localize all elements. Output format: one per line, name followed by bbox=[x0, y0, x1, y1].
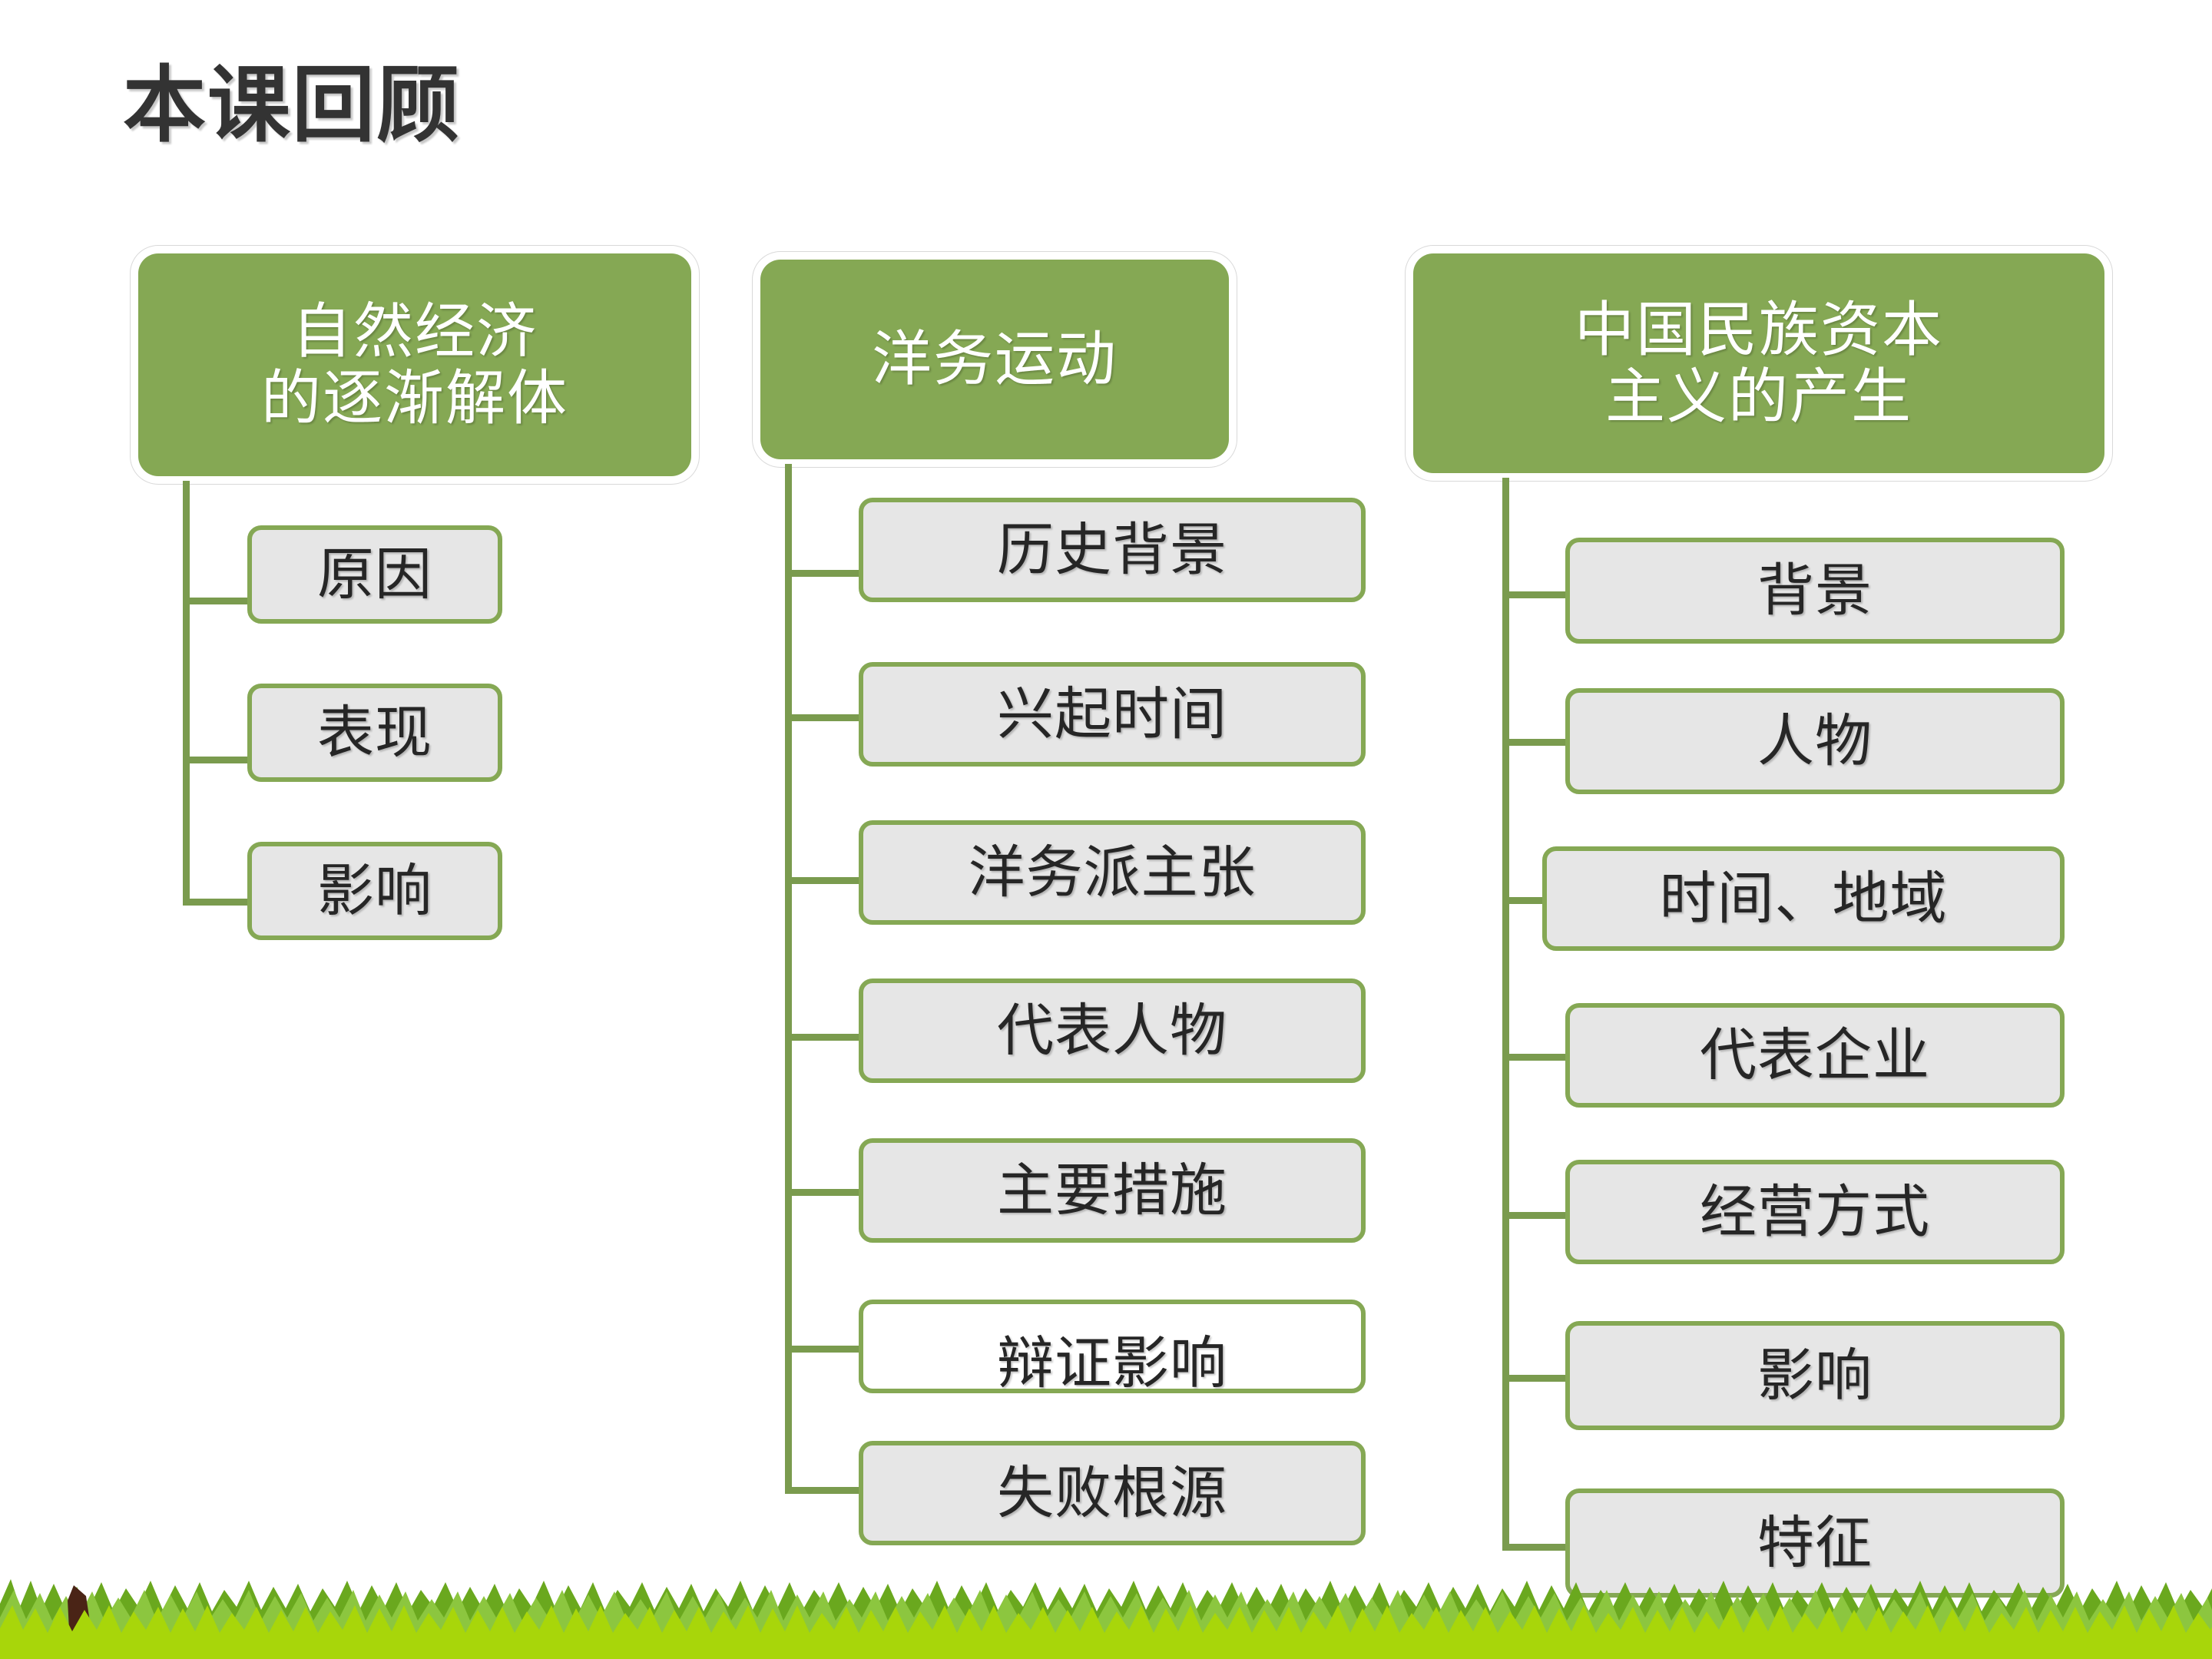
child-node-label: 表现 bbox=[317, 704, 432, 761]
connector-stub-3-1 bbox=[1502, 591, 1570, 598]
connector-stub-3-7 bbox=[1502, 1544, 1570, 1551]
child-node-2-2[interactable]: 兴起时间 bbox=[859, 662, 1366, 767]
child-node-label: 洋务派主张 bbox=[969, 844, 1257, 901]
child-node-1-2[interactable]: 表现 bbox=[247, 684, 502, 782]
connector-stub-3-6 bbox=[1502, 1375, 1570, 1382]
grass-icon bbox=[0, 1573, 2212, 1659]
connector-stub-2-4 bbox=[785, 1034, 863, 1041]
root-node-chinese-national-capitalism[interactable]: 中国民族资本 主义的产生 bbox=[1413, 253, 2104, 473]
connector-stub-2-1 bbox=[785, 570, 863, 577]
child-node-3-4[interactable]: 代表企业 bbox=[1565, 1003, 2065, 1108]
child-node-label: 背景 bbox=[1757, 562, 1873, 619]
root-node-natural-economy[interactable]: 自然经济 的逐渐解体 bbox=[138, 253, 691, 476]
root-node-label: 自然经济 的逐渐解体 bbox=[261, 298, 568, 432]
child-node-label: 历史背景 bbox=[997, 522, 1227, 578]
child-node-label: 经营方式 bbox=[1700, 1184, 1930, 1240]
child-node-label: 时间、地域 bbox=[1660, 870, 1948, 927]
connector-trunk-column-3 bbox=[1502, 478, 1509, 1550]
child-node-label: 特征 bbox=[1757, 1515, 1873, 1571]
child-node-label: 失败根源 bbox=[997, 1465, 1227, 1522]
child-node-3-1[interactable]: 背景 bbox=[1565, 538, 2065, 644]
child-node-label: 原因 bbox=[317, 546, 432, 603]
connector-stub-3-3 bbox=[1502, 897, 1547, 904]
connector-stub-2-5 bbox=[785, 1189, 863, 1196]
mind-map-diagram: 自然经济 的逐渐解体 原因 表现 影响 洋务运动 bbox=[0, 0, 2212, 1659]
connector-stub-2-7 bbox=[785, 1487, 863, 1494]
child-node-label: 代表人物 bbox=[997, 1002, 1227, 1059]
root-node-label: 洋务运动 bbox=[872, 326, 1118, 392]
child-node-2-4[interactable]: 代表人物 bbox=[859, 979, 1366, 1083]
connector-stub-3-2 bbox=[1502, 739, 1570, 746]
connector-stub-3-4 bbox=[1502, 1054, 1570, 1061]
child-node-2-7[interactable]: 失败根源 bbox=[859, 1441, 1366, 1545]
connector-stub-2-2 bbox=[785, 714, 863, 721]
child-node-3-5[interactable]: 经营方式 bbox=[1565, 1160, 2065, 1264]
child-node-label: 主要措施 bbox=[997, 1162, 1227, 1219]
connector-stub-3-5 bbox=[1502, 1212, 1570, 1219]
root-node-label: 中国民族资本 主义的产生 bbox=[1575, 296, 1943, 431]
connector-stub-2-6 bbox=[785, 1346, 863, 1353]
child-node-3-2[interactable]: 人物 bbox=[1565, 688, 2065, 794]
child-node-label: 人物 bbox=[1757, 713, 1873, 770]
child-node-1-1[interactable]: 原因 bbox=[247, 525, 502, 624]
grass-border-decoration bbox=[0, 1573, 2212, 1659]
child-node-label: 影响 bbox=[317, 863, 432, 919]
connector-trunk-column-1 bbox=[183, 481, 190, 905]
connector-stub-1-3 bbox=[183, 899, 252, 906]
connector-trunk-column-2 bbox=[785, 464, 792, 1490]
connector-stub-2-3 bbox=[785, 877, 863, 884]
connector-stub-1-1 bbox=[183, 598, 252, 604]
child-node-2-1[interactable]: 历史背景 bbox=[859, 498, 1366, 602]
child-node-label: 影响 bbox=[1757, 1347, 1873, 1404]
root-node-westernization-movement[interactable]: 洋务运动 bbox=[760, 260, 1229, 459]
child-node-2-6[interactable]: 辩证影响 bbox=[859, 1300, 1366, 1393]
child-node-2-5[interactable]: 主要措施 bbox=[859, 1138, 1366, 1243]
child-node-2-3[interactable]: 洋务派主张 bbox=[859, 820, 1366, 925]
connector-stub-1-2 bbox=[183, 757, 252, 763]
child-node-label: 兴起时间 bbox=[997, 686, 1227, 743]
child-node-label: 辩证影响 bbox=[997, 1335, 1227, 1392]
child-node-label: 代表企业 bbox=[1700, 1027, 1930, 1084]
child-node-3-6[interactable]: 影响 bbox=[1565, 1321, 2065, 1430]
child-node-3-3[interactable]: 时间、地域 bbox=[1542, 846, 2065, 951]
child-node-1-3[interactable]: 影响 bbox=[247, 842, 502, 940]
